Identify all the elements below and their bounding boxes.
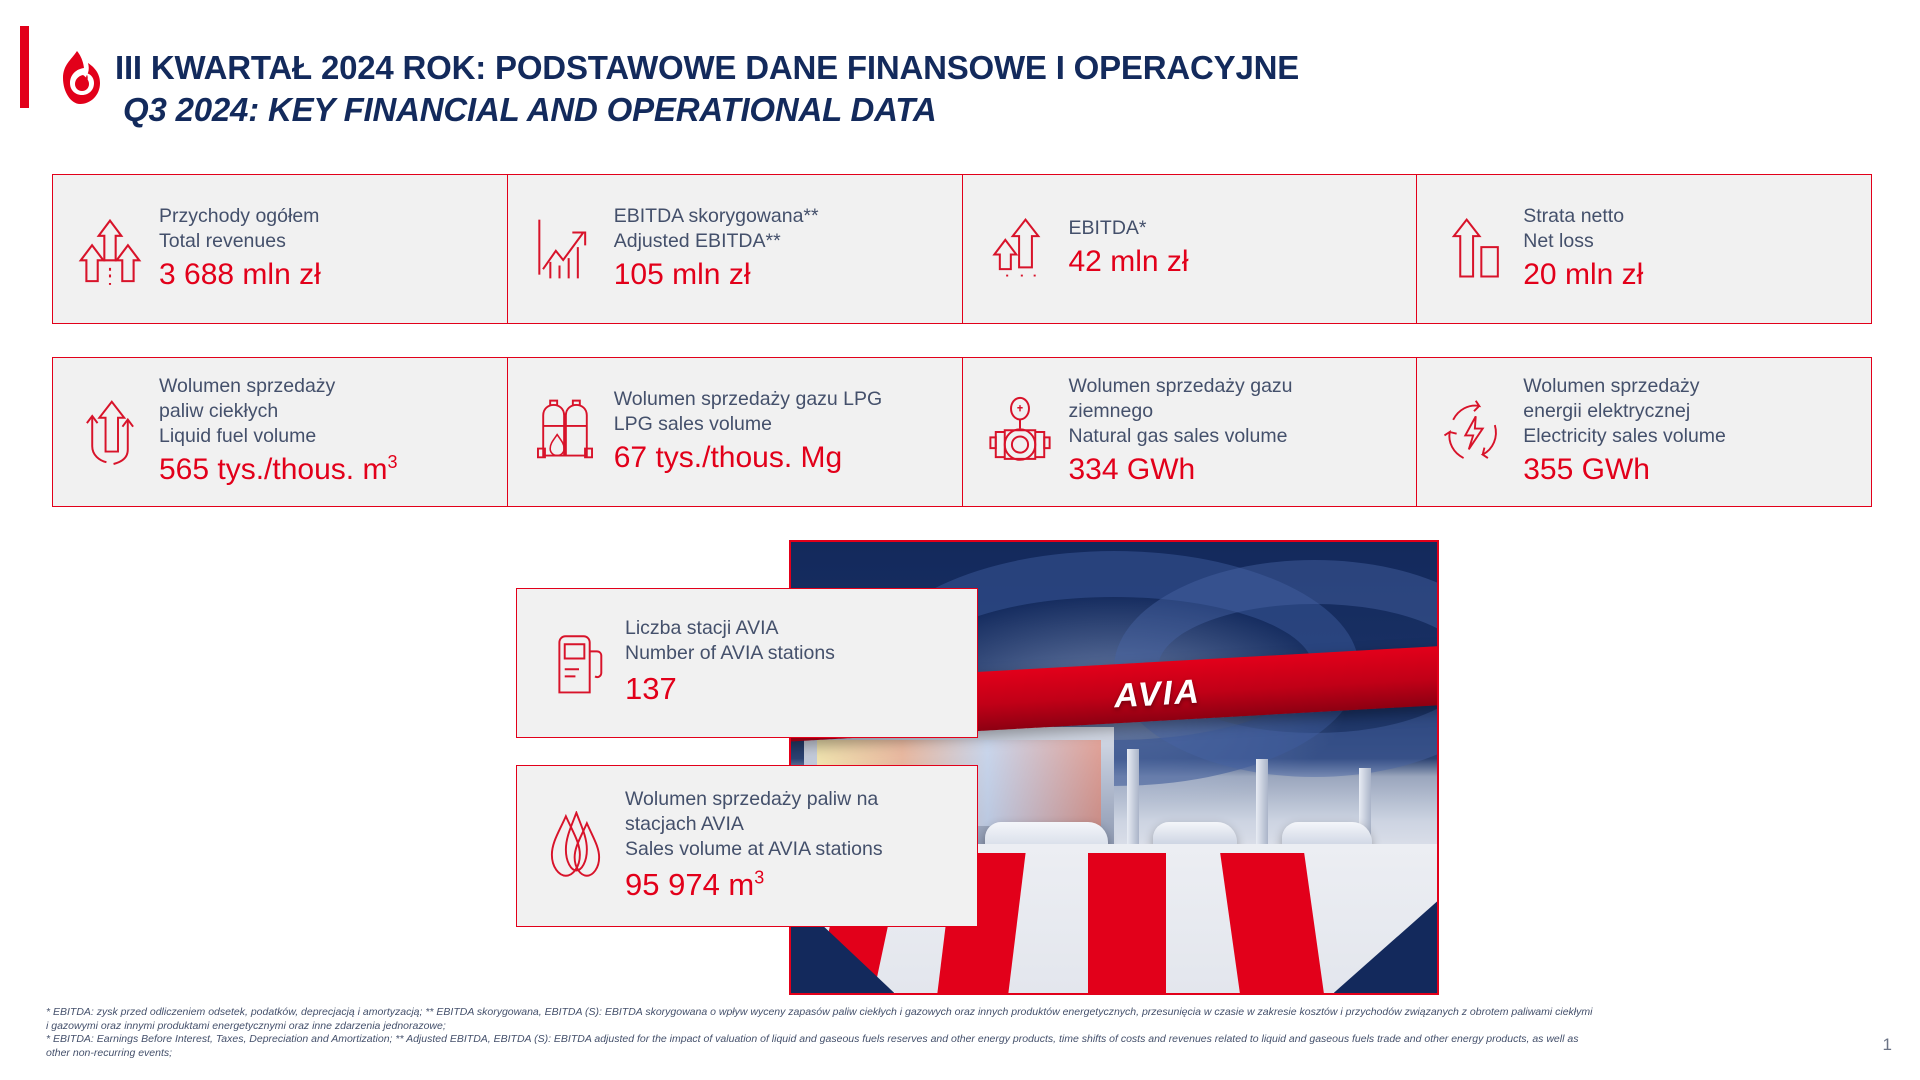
footnote-pl-line1: * EBITDA: zysk przed odliczeniem odsetek… xyxy=(46,1006,1856,1020)
kpi-text: Wolumen sprzedaży energii elektrycznej E… xyxy=(1517,374,1863,490)
kpi-value: 105 mln zł xyxy=(614,255,954,295)
kpi-text: Przychody ogółem Total revenues 3 688 ml… xyxy=(153,204,499,295)
kpi-label-en: Natural gas sales volume xyxy=(1069,424,1409,449)
lpg-cylinders-icon xyxy=(522,399,608,465)
avia-value-superscript: 3 xyxy=(754,867,764,887)
kpi-text: Wolumen sprzedaży paliw ciekłych Liquid … xyxy=(153,374,499,490)
orlen-unimot-flame-logo xyxy=(50,50,104,106)
kpi-label-pl: Wolumen sprzedaży gazu xyxy=(1069,374,1409,399)
kpi-text: Wolumen sprzedaży gazu LPG LPG sales vol… xyxy=(608,387,954,478)
footnote-pl-line2: i gazowymi oraz innymi produktami energe… xyxy=(46,1020,1856,1034)
kpi-label-pl2: paliw ciekłych xyxy=(159,399,499,424)
kpi-label-pl: Wolumen sprzedaży xyxy=(1523,374,1863,399)
kpi-card-total-revenues: Przychody ogółem Total revenues 3 688 ml… xyxy=(53,175,508,323)
avia-value: 137 xyxy=(625,668,835,710)
kpi-label-pl: Wolumen sprzedaży gazu LPG xyxy=(614,387,954,412)
financial-kpi-row: Przychody ogółem Total revenues 3 688 ml… xyxy=(52,174,1872,324)
two-up-arrows-icon xyxy=(977,214,1063,284)
kpi-value: 355 GWh xyxy=(1523,450,1863,490)
kpi-card-ebitda: EBITDA* 42 mln zł xyxy=(963,175,1418,323)
accent-bar xyxy=(20,26,29,108)
footnotes: * EBITDA: zysk przed odliczeniem odsetek… xyxy=(46,1006,1856,1060)
avia-label-pl: Liczba stacji AVIA xyxy=(625,616,835,641)
avia-value: 95 974 m3 xyxy=(625,864,883,906)
kpi-text: Strata netto Net loss 20 mln zł xyxy=(1517,204,1863,295)
kpi-value: 334 GWh xyxy=(1069,450,1409,490)
up-arrow-bar-icon xyxy=(1431,214,1517,284)
footnote-en-line1: * EBITDA: Earnings Before Interest, Taxe… xyxy=(46,1033,1856,1047)
footnote-en-line2: other non-recurring events; xyxy=(46,1047,1856,1061)
kpi-label-pl: Przychody ogółem xyxy=(159,204,499,229)
avia-text: Liczba stacji AVIA Number of AVIA statio… xyxy=(619,616,835,710)
kpi-label-pl: Strata netto xyxy=(1523,204,1863,229)
kpi-label-pl: EBITDA skorygowana** xyxy=(614,204,954,229)
electricity-recycle-icon xyxy=(1431,399,1517,465)
avia-card-station-count: Liczba stacji AVIA Number of AVIA statio… xyxy=(516,588,978,738)
fuel-pump-icon xyxy=(539,630,619,696)
page-title: III KWARTAŁ 2024 ROK: PODSTAWOWE DANE FI… xyxy=(115,48,1299,132)
growth-chart-arrow-icon xyxy=(522,216,608,282)
avia-label-en: Number of AVIA stations xyxy=(625,641,835,666)
slide-header: III KWARTAŁ 2024 ROK: PODSTAWOWE DANE FI… xyxy=(0,18,1920,126)
fuel-arrows-icon xyxy=(67,396,153,468)
avia-card-fuel-volume: Wolumen sprzedaży paliw na stacjach AVIA… xyxy=(516,765,978,927)
kpi-label-pl2: energii elektrycznej xyxy=(1523,399,1863,424)
operational-kpi-row: Wolumen sprzedaży paliw ciekłych Liquid … xyxy=(52,357,1872,507)
kpi-value: 42 mln zł xyxy=(1069,242,1409,282)
kpi-label-pl: EBITDA* xyxy=(1069,216,1409,241)
kpi-card-liquid-fuel-volume: Wolumen sprzedaży paliw ciekłych Liquid … xyxy=(53,358,508,506)
kpi-card-lpg-volume: Wolumen sprzedaży gazu LPG LPG sales vol… xyxy=(508,358,963,506)
three-up-arrows-icon xyxy=(67,213,153,285)
kpi-label-en: Net loss xyxy=(1523,229,1863,254)
kpi-text: EBITDA* 42 mln zł xyxy=(1063,216,1409,282)
kpi-text: Wolumen sprzedaży gazu ziemnego Natural … xyxy=(1063,374,1409,490)
avia-label-pl: Wolumen sprzedaży paliw na xyxy=(625,787,883,812)
avia-label-pl2: stacjach AVIA xyxy=(625,812,883,837)
kpi-label-en: Electricity sales volume xyxy=(1523,424,1863,449)
kpi-card-net-loss: Strata netto Net loss 20 mln zł xyxy=(1417,175,1871,323)
kpi-value-superscript: 3 xyxy=(387,452,397,472)
kpi-label-pl: Wolumen sprzedaży xyxy=(159,374,499,399)
kpi-card-natural-gas-volume: Wolumen sprzedaży gazu ziemnego Natural … xyxy=(963,358,1418,506)
photo-brand-text: AVIA xyxy=(1113,673,1202,717)
gas-meter-icon xyxy=(977,396,1063,468)
avia-label-en: Sales volume at AVIA stations xyxy=(625,837,883,862)
kpi-label-en: Total revenues xyxy=(159,229,499,254)
kpi-value: 20 mln zł xyxy=(1523,255,1863,295)
kpi-text: EBITDA skorygowana** Adjusted EBITDA** 1… xyxy=(608,204,954,295)
avia-text: Wolumen sprzedaży paliw na stacjach AVIA… xyxy=(619,787,883,906)
kpi-label-en: Liquid fuel volume xyxy=(159,424,499,449)
kpi-label-en: Adjusted EBITDA** xyxy=(614,229,954,254)
kpi-value: 565 tys./thous. m3 xyxy=(159,450,499,490)
page-number: 1 xyxy=(1883,1035,1892,1055)
title-polish: III KWARTAŁ 2024 ROK: PODSTAWOWE DANE FI… xyxy=(115,48,1299,88)
kpi-label-pl2: ziemnego xyxy=(1069,399,1409,424)
title-english: Q3 2024: KEY FINANCIAL AND OPERATIONAL D… xyxy=(115,88,1299,132)
kpi-card-electricity-volume: Wolumen sprzedaży energii elektrycznej E… xyxy=(1417,358,1871,506)
kpi-card-adjusted-ebitda: EBITDA skorygowana** Adjusted EBITDA** 1… xyxy=(508,175,963,323)
photo-red-stripe xyxy=(1088,853,1166,993)
kpi-label-en: LPG sales volume xyxy=(614,412,954,437)
kpi-value: 3 688 mln zł xyxy=(159,255,499,295)
fuel-droplets-icon xyxy=(539,811,619,881)
kpi-value: 67 tys./thous. Mg xyxy=(614,438,954,478)
